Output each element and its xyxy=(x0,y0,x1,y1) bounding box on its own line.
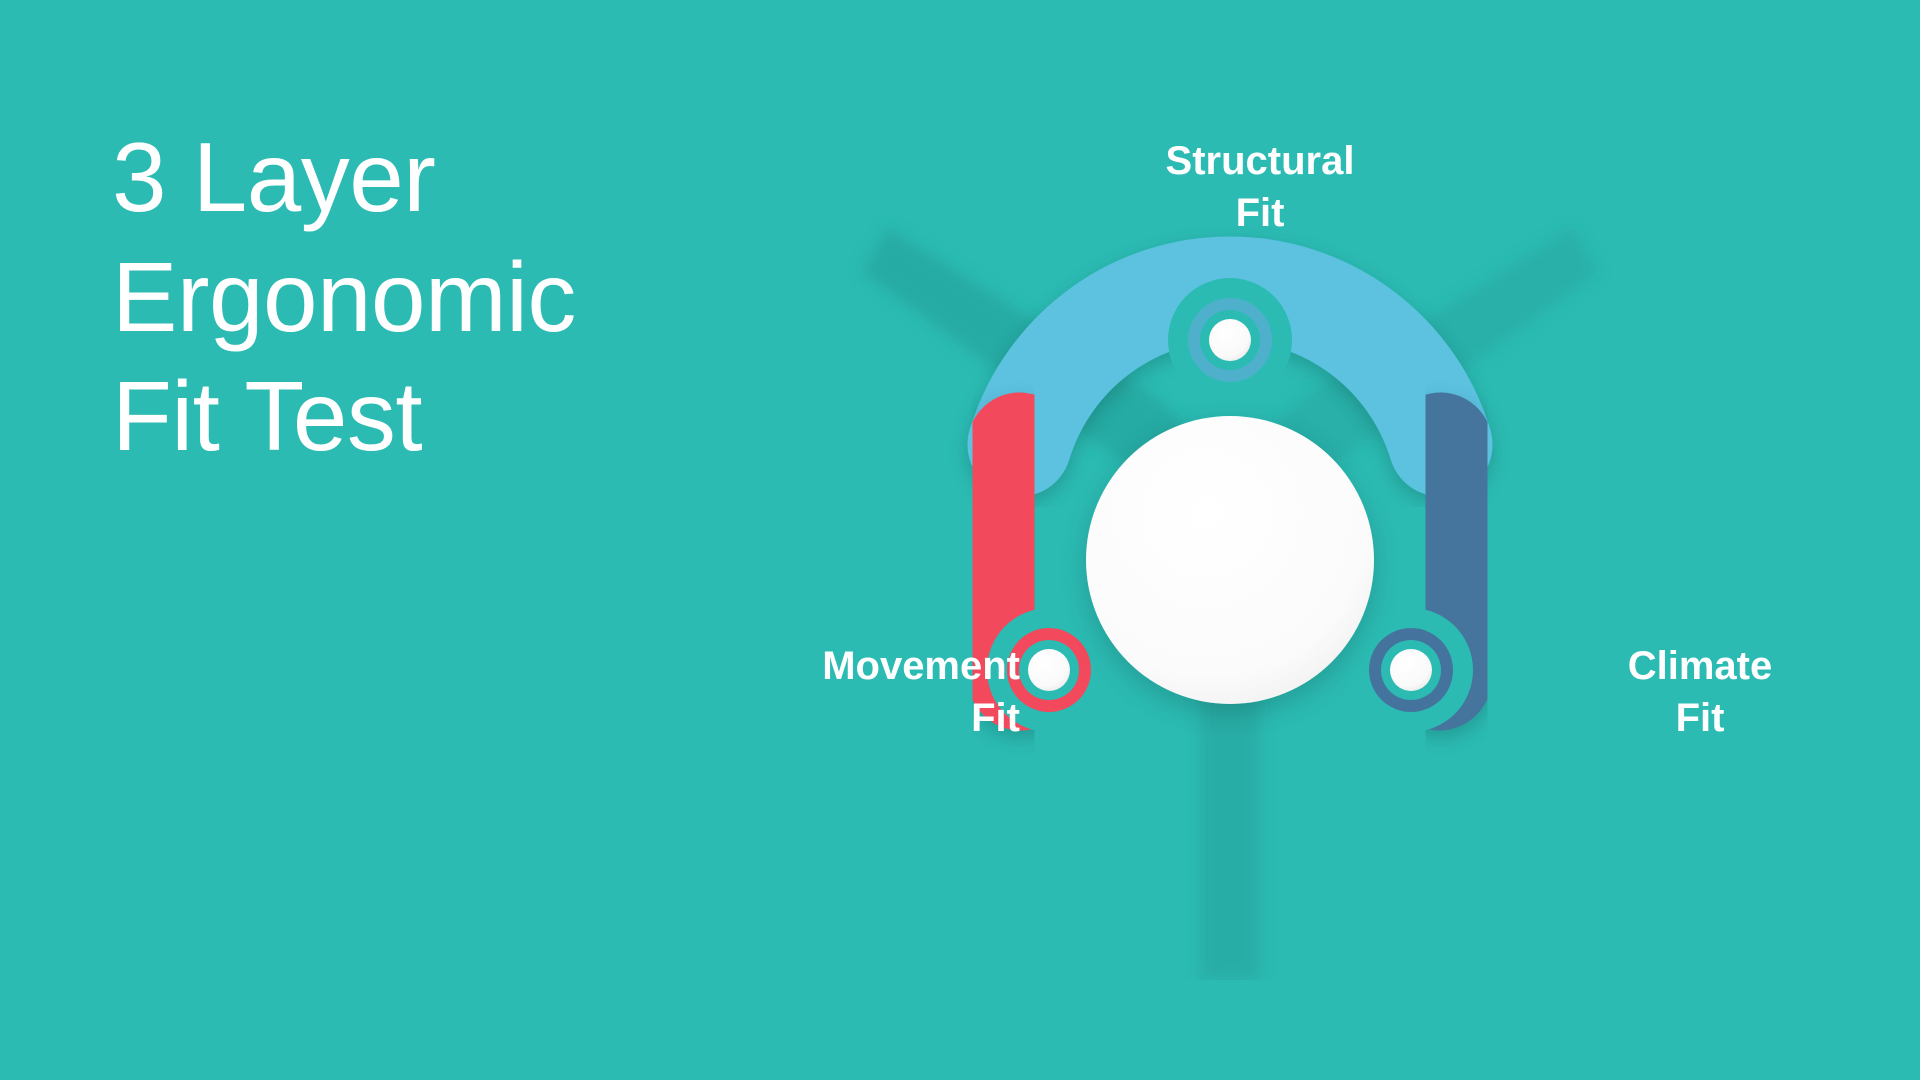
page-title: 3 Layer Ergonomic Fit Test xyxy=(112,118,812,477)
segment-label-structural: Structural Fit xyxy=(1080,135,1440,239)
segment-label-movement: Movement Fit xyxy=(560,640,1020,744)
segment-structural-dot xyxy=(1209,319,1251,361)
segment-label-climate-line-2: Fit xyxy=(1540,692,1860,744)
title-line-1: 3 Layer xyxy=(112,118,812,238)
segment-label-climate: Climate Fit xyxy=(1540,640,1860,744)
segment-label-structural-line-1: Structural xyxy=(1080,135,1440,187)
segment-label-movement-line-1: Movement xyxy=(560,640,1020,692)
segment-climate-dot xyxy=(1390,649,1432,691)
segment-label-climate-line-1: Climate xyxy=(1540,640,1860,692)
title-line-3: Fit Test xyxy=(112,357,812,477)
ray-bottom xyxy=(1200,660,1260,980)
diagram-center-hub xyxy=(1086,416,1374,704)
segment-movement-dot xyxy=(1028,649,1070,691)
title-line-2: Ergonomic xyxy=(112,238,812,358)
segment-label-structural-line-2: Fit xyxy=(1080,187,1440,239)
slide-canvas: 3 Layer Ergonomic Fit Test xyxy=(0,0,1920,1080)
segment-label-movement-line-2: Fit xyxy=(560,692,1020,744)
